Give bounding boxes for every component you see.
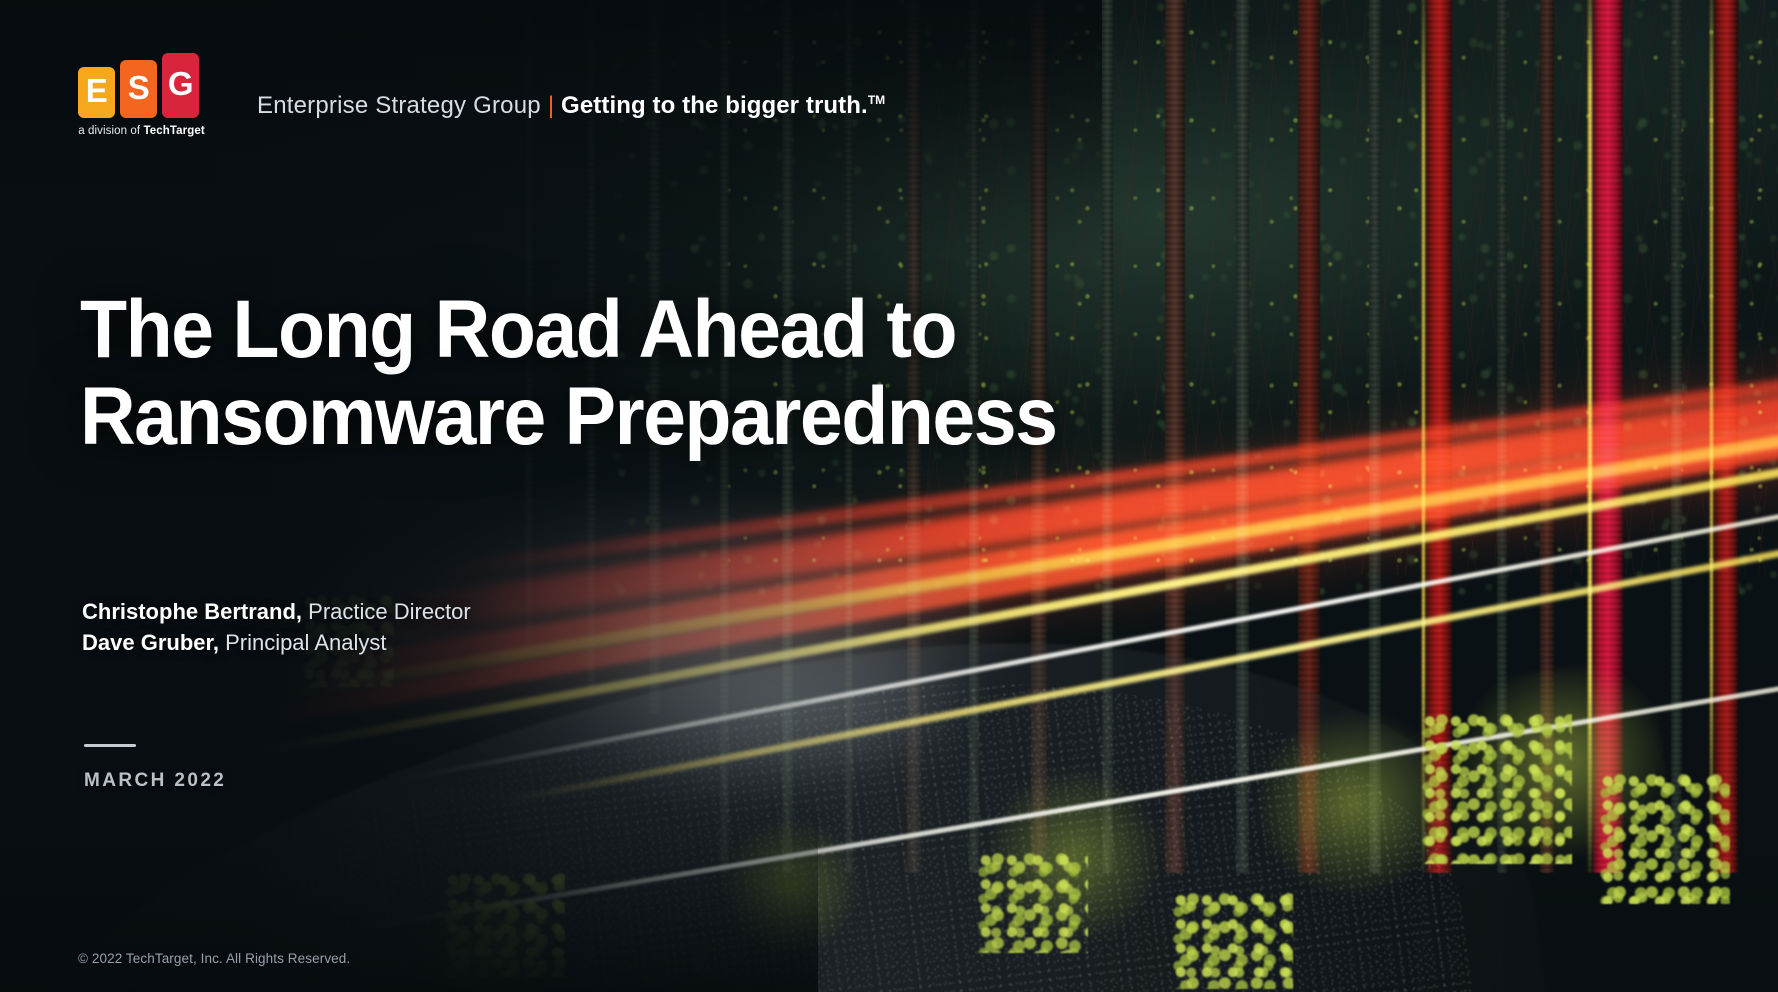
slide-content: E S G a division of TechTarget Enterpris… — [0, 0, 1778, 992]
page-title: The Long Road Ahead to Ransomware Prepar… — [80, 287, 1260, 461]
esg-logo-subtitle: a division of TechTarget — [78, 125, 205, 137]
trademark-symbol: TM — [868, 93, 885, 107]
tagline-separator: | — [548, 92, 554, 119]
author-entry: Dave Gruber, Principal Analyst — [82, 627, 471, 658]
logo-subtitle-brand: TechTarget — [144, 125, 205, 137]
author-list: Christophe Bertrand, Practice Director D… — [82, 596, 471, 658]
esg-logo-blocks: E S G — [78, 54, 205, 118]
esg-logo-letter-s: S — [120, 60, 157, 118]
date-divider-rule — [84, 744, 136, 747]
esg-logo-letter-e: E — [78, 67, 115, 118]
brand-tagline: Enterprise Strategy Group|Getting to the… — [257, 94, 885, 118]
esg-logo: E S G a division of TechTarget — [78, 54, 205, 137]
publication-date: MARCH 2022 — [84, 770, 226, 792]
esg-logo-letter-g: G — [162, 53, 199, 118]
page-title-line-2: Ransomware Preparedness — [80, 374, 1189, 461]
author-entry: Christophe Bertrand, Practice Director — [82, 596, 471, 627]
tagline-slogan: Getting to the bigger truth. — [561, 92, 868, 119]
copyright-notice: © 2022 TechTarget, Inc. All Rights Reser… — [78, 951, 350, 966]
author-role: Practice Director — [302, 599, 471, 624]
tagline-company-name: Enterprise Strategy Group — [257, 92, 541, 119]
title-slide: E S G a division of TechTarget Enterpris… — [0, 0, 1778, 992]
logo-subtitle-prefix: a division of — [78, 125, 143, 137]
author-name: Dave Gruber, — [82, 630, 219, 655]
author-role: Principal Analyst — [219, 630, 387, 655]
page-title-line-1: The Long Road Ahead to — [80, 287, 1189, 374]
author-name: Christophe Bertrand, — [82, 599, 302, 624]
